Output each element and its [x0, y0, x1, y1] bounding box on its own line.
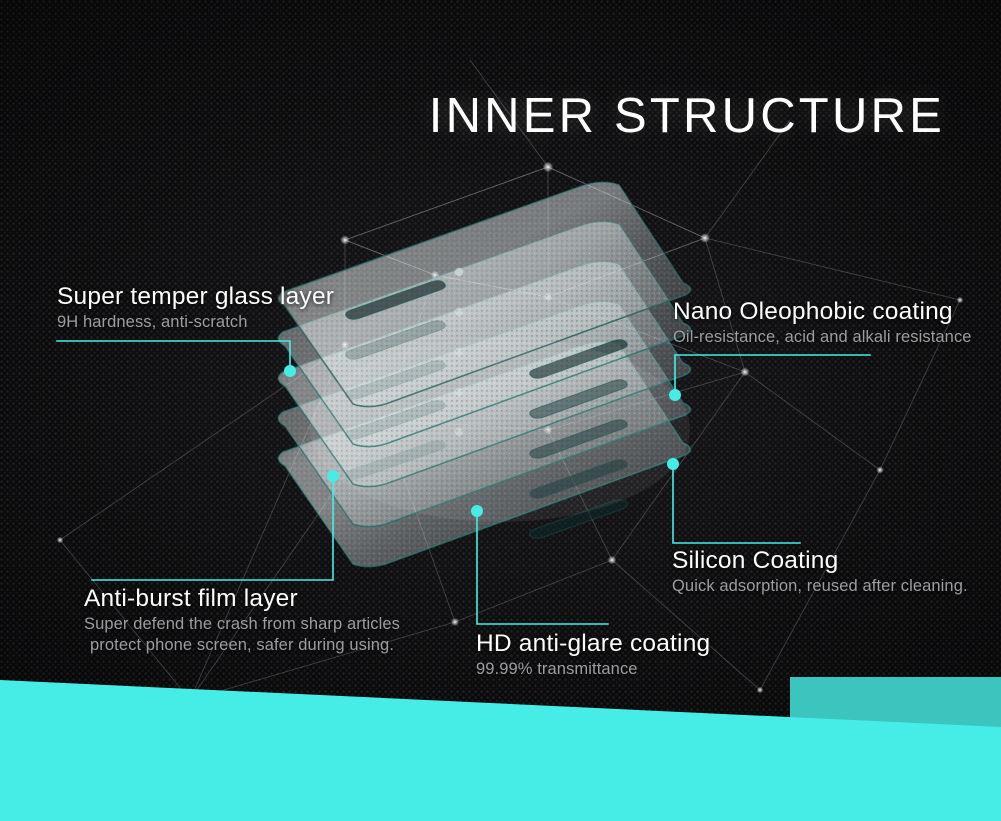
- infographic-canvas: INNER STRUCTURE Super temper glass layer…: [0, 0, 1001, 821]
- footer-ribbons: [0, 0, 1001, 821]
